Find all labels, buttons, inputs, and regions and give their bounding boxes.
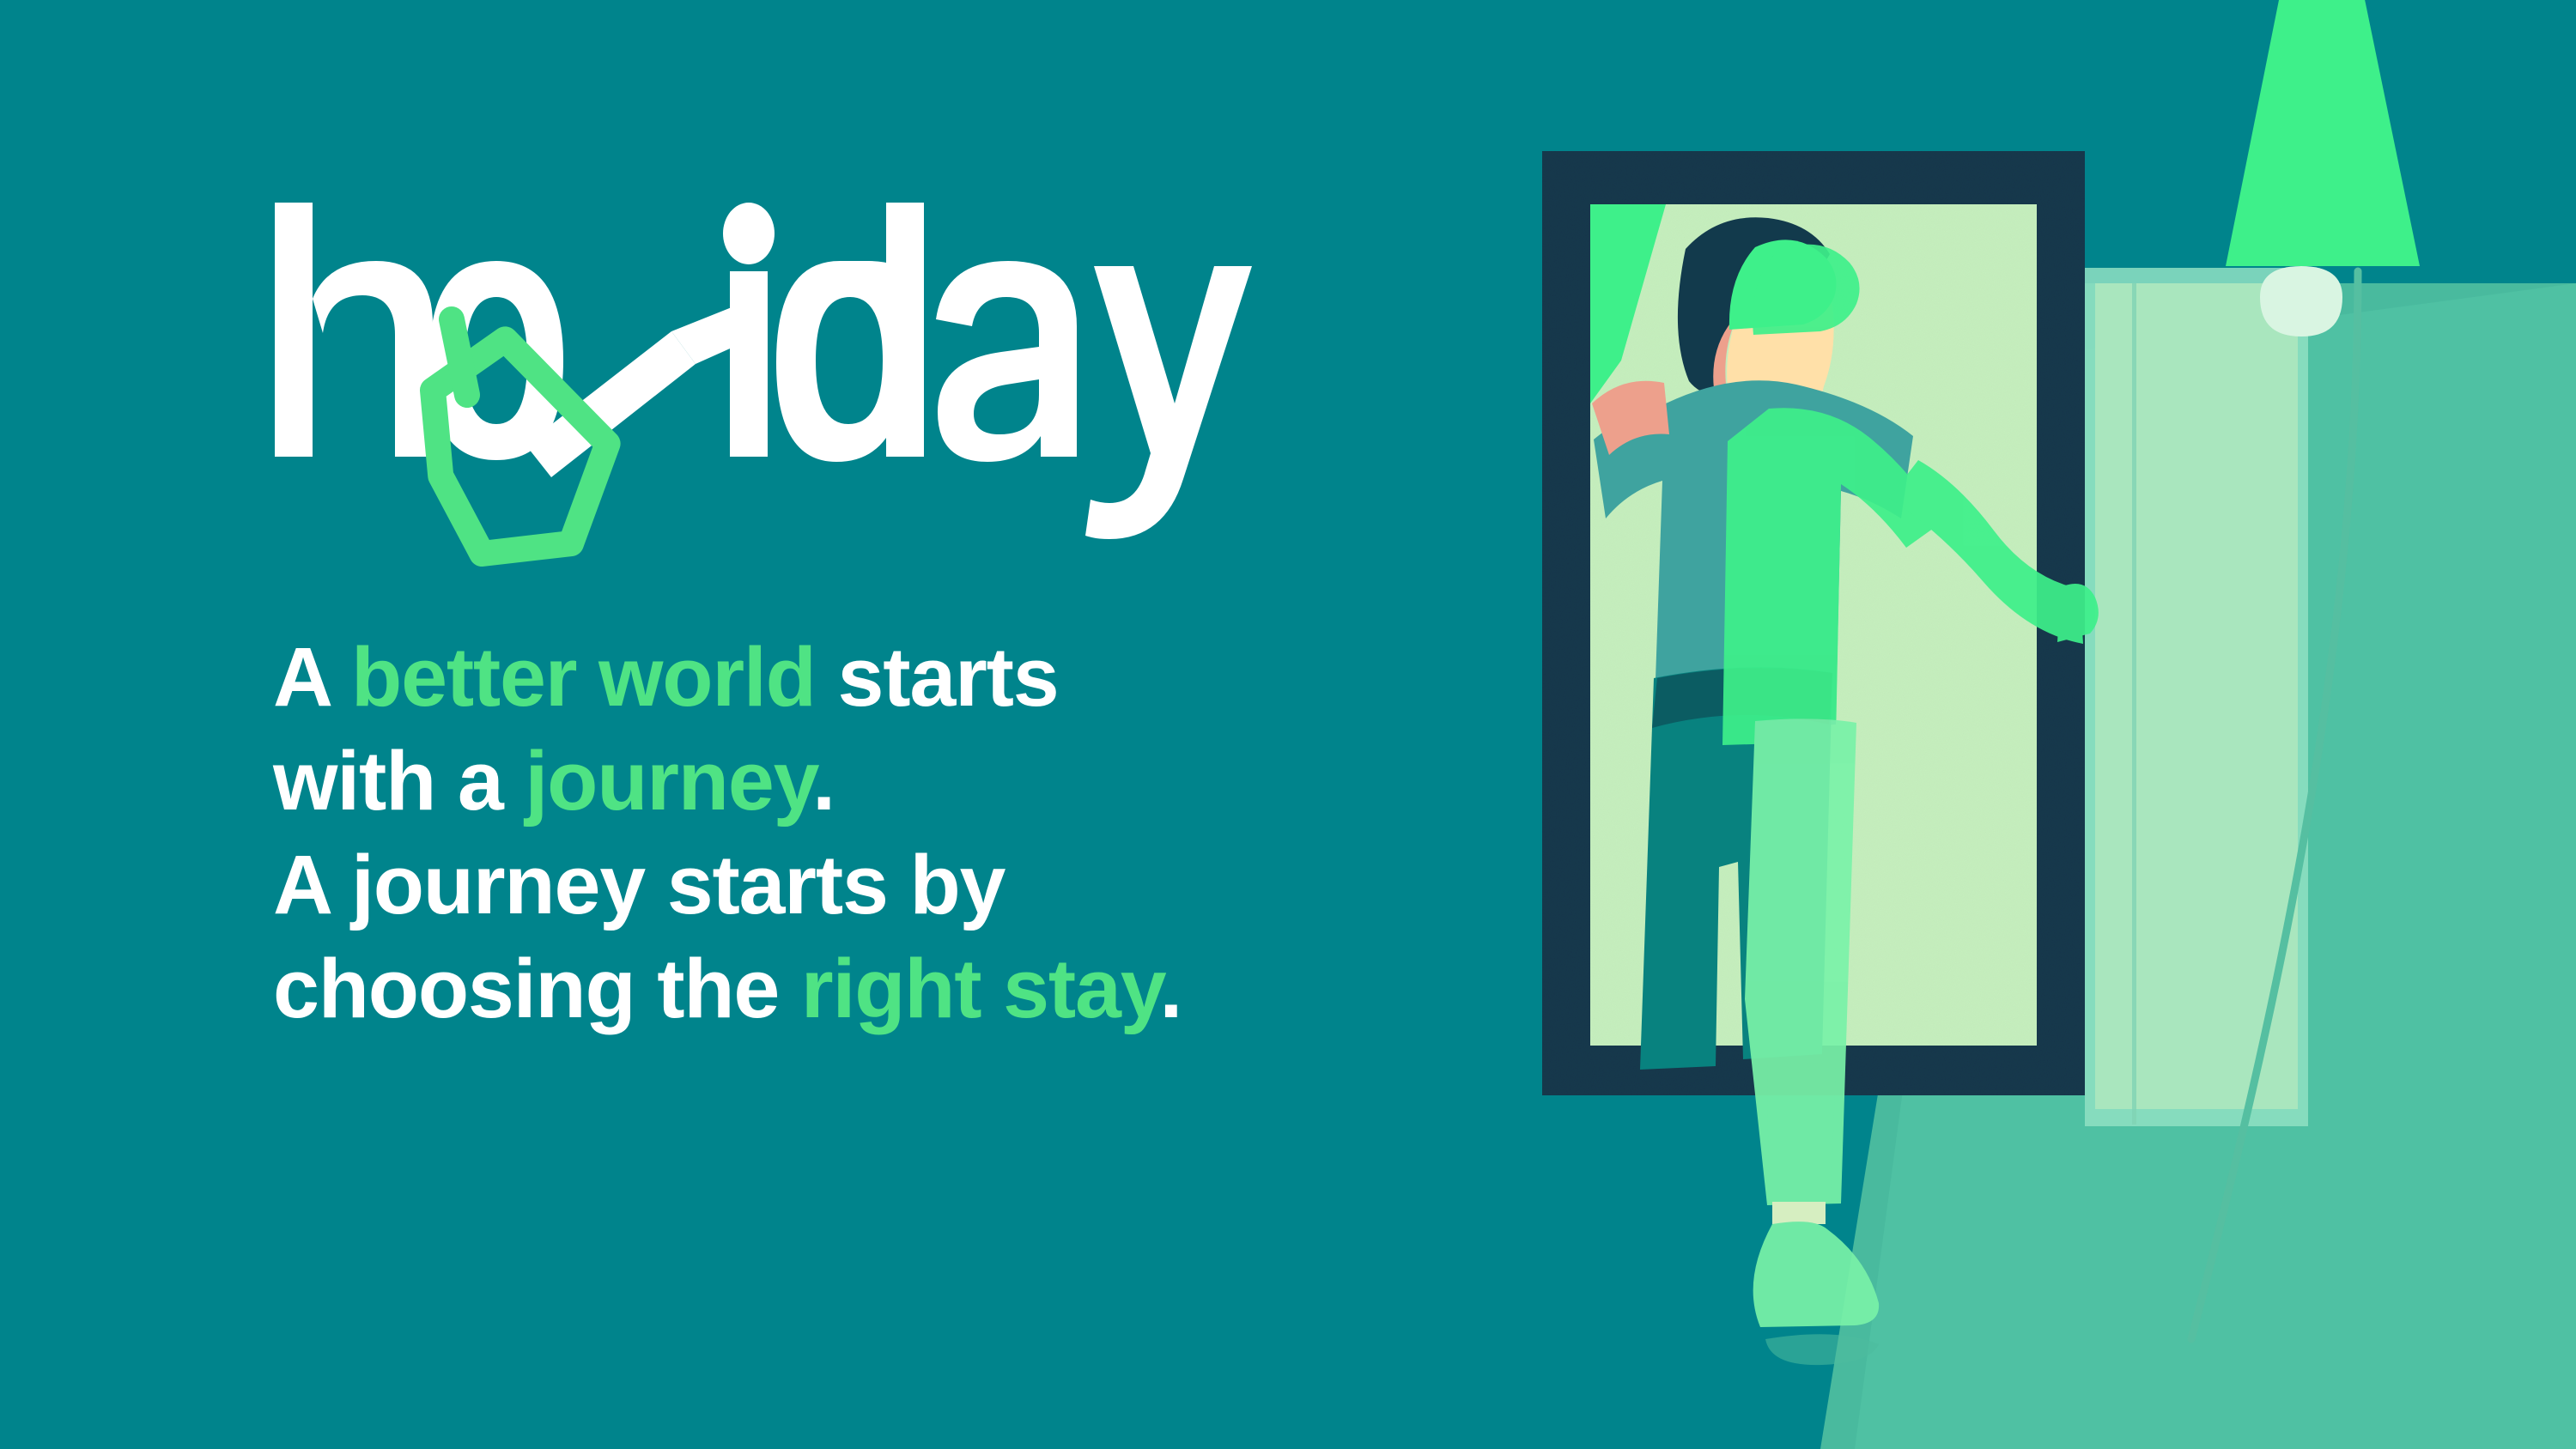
tagline-seg-highlight: better world <box>351 630 816 724</box>
tagline-line-4: choosing the right stay. <box>273 947 1406 1030</box>
lamp-shade <box>2226 0 2420 266</box>
brand-logo[interactable]: holiday <box>268 203 1178 563</box>
tagline-seg-plain: choosing the <box>273 942 801 1035</box>
ghost-shin <box>1767 1063 1836 1203</box>
tagline-seg-period: . <box>812 734 835 828</box>
tagline-line-2: with a journey. <box>273 739 1406 822</box>
ghost-sock <box>1772 1202 1826 1224</box>
tagline-seg-highlight: right stay <box>801 942 1159 1035</box>
slide-canvas: holiday <box>0 0 2576 1449</box>
tagline-seg-highlight: journey <box>525 734 812 828</box>
tagline-seg-plain: A journey starts by <box>273 838 1005 931</box>
tagline-seg-plain: A <box>273 630 351 724</box>
tagline-seg-plain: starts <box>816 630 1059 724</box>
logo-wordmark-glyphs <box>275 203 1252 539</box>
tagline-seg-plain: with a <box>273 734 525 828</box>
lamp-pole <box>2132 283 2136 1125</box>
tagline-seg-period: . <box>1159 942 1182 1035</box>
text-column: holiday <box>0 0 1460 1449</box>
tagline-line-3: A journey starts by <box>273 843 1406 926</box>
tagline-line-1: A better world starts <box>273 635 1406 718</box>
lamp-bulb <box>2260 266 2342 336</box>
illustration-man-stretching-by-window <box>1408 0 2576 1449</box>
tagline: A better world starts with a journey. A … <box>273 635 1406 1030</box>
